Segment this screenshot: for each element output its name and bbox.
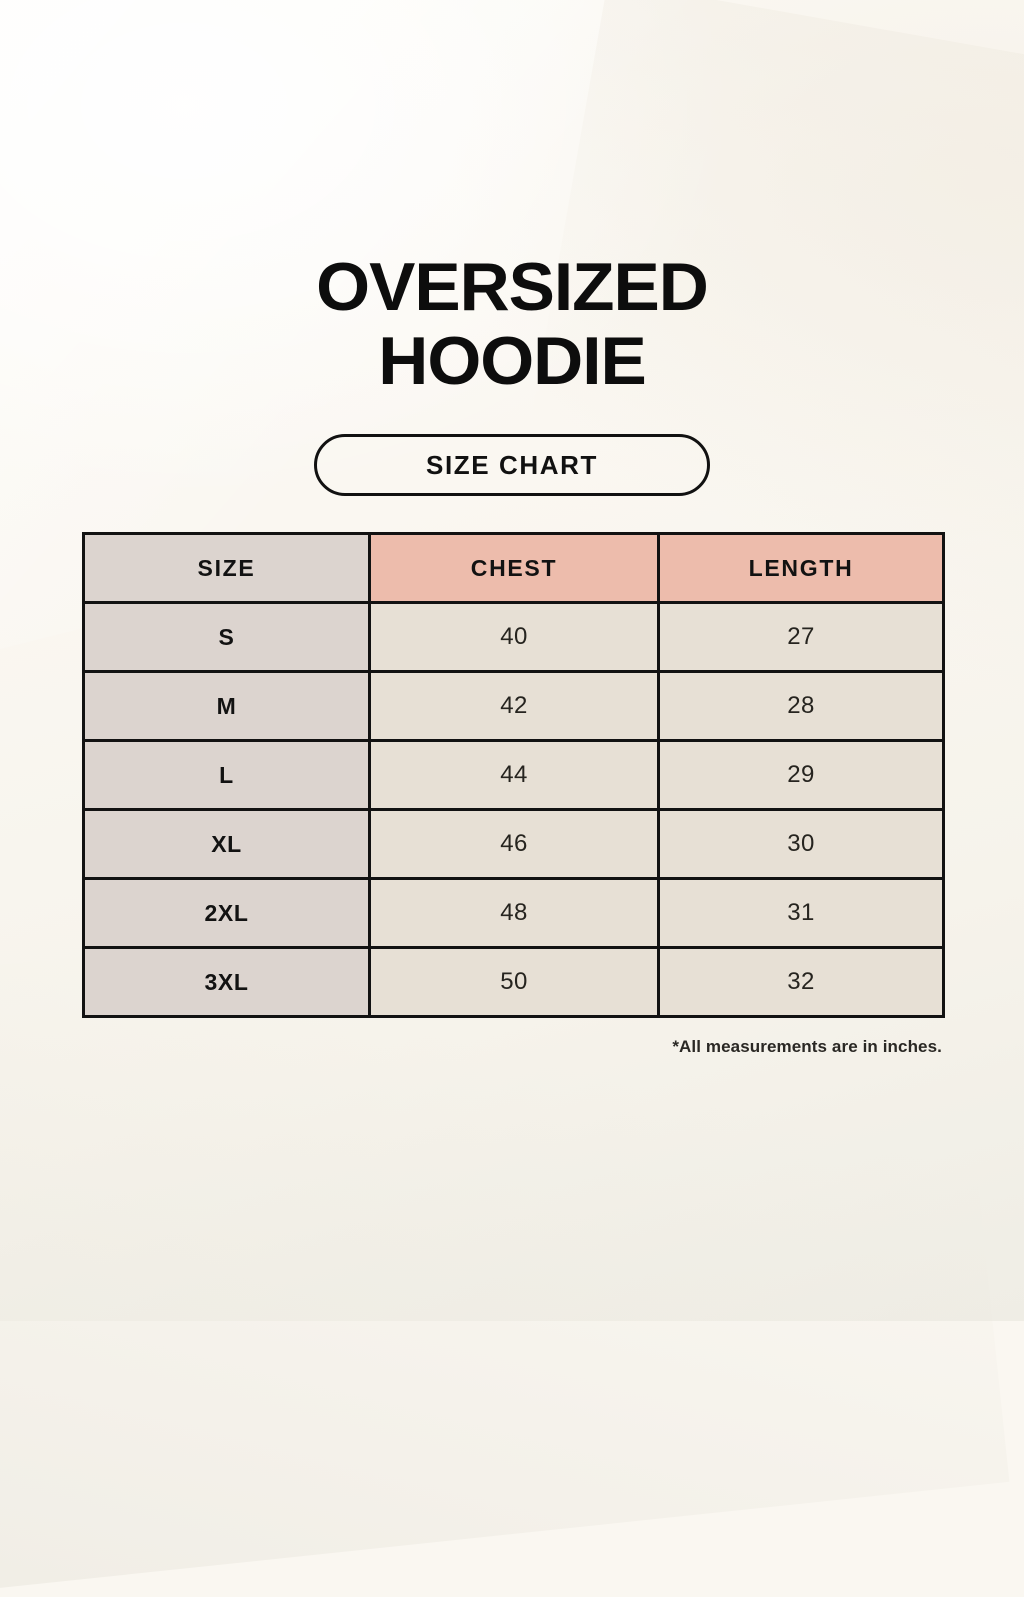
size-chart-badge: SIZE CHART xyxy=(314,434,710,496)
page-title: OVERSIZED HOODIE xyxy=(0,253,1024,395)
cell-chest: 42 xyxy=(370,672,659,741)
column-header-chest: CHEST xyxy=(370,534,659,603)
cell-size: XL xyxy=(84,810,370,879)
size-chart-table-wrapper: SIZE CHEST LENGTH S 40 27 M 42 28 L xyxy=(82,532,942,1018)
cell-length: 32 xyxy=(659,948,944,1017)
table-row: M 42 28 xyxy=(84,672,944,741)
cell-chest: 44 xyxy=(370,741,659,810)
cell-chest: 48 xyxy=(370,879,659,948)
cell-length: 31 xyxy=(659,879,944,948)
table-header-row: SIZE CHEST LENGTH xyxy=(84,534,944,603)
table-header: SIZE CHEST LENGTH xyxy=(84,534,944,603)
cell-size: L xyxy=(84,741,370,810)
cell-size: M xyxy=(84,672,370,741)
table-body: S 40 27 M 42 28 L 44 29 XL 46 30 xyxy=(84,603,944,1017)
measurements-footnote: *All measurements are in inches. xyxy=(672,1037,942,1057)
column-header-size: SIZE xyxy=(84,534,370,603)
cell-length: 29 xyxy=(659,741,944,810)
size-chart-badge-label: SIZE CHART xyxy=(426,450,598,481)
size-chart-table: SIZE CHEST LENGTH S 40 27 M 42 28 L xyxy=(82,532,945,1018)
size-chart-poster: OVERSIZED HOODIE SIZE CHART SIZE CHEST L… xyxy=(0,0,1024,1321)
cell-chest: 50 xyxy=(370,948,659,1017)
table-row: 3XL 50 32 xyxy=(84,948,944,1017)
column-header-length: LENGTH xyxy=(659,534,944,603)
cell-chest: 40 xyxy=(370,603,659,672)
page-title-line-2: HOODIE xyxy=(0,327,1024,395)
table-row: L 44 29 xyxy=(84,741,944,810)
cell-length: 30 xyxy=(659,810,944,879)
table-row: XL 46 30 xyxy=(84,810,944,879)
table-row: 2XL 48 31 xyxy=(84,879,944,948)
cell-size: S xyxy=(84,603,370,672)
cell-length: 27 xyxy=(659,603,944,672)
cell-size: 2XL xyxy=(84,879,370,948)
cell-chest: 46 xyxy=(370,810,659,879)
page-title-line-1: OVERSIZED xyxy=(0,253,1024,321)
table-row: S 40 27 xyxy=(84,603,944,672)
cell-size: 3XL xyxy=(84,948,370,1017)
cell-length: 28 xyxy=(659,672,944,741)
size-chart-badge-wrapper: SIZE CHART xyxy=(0,434,1024,496)
